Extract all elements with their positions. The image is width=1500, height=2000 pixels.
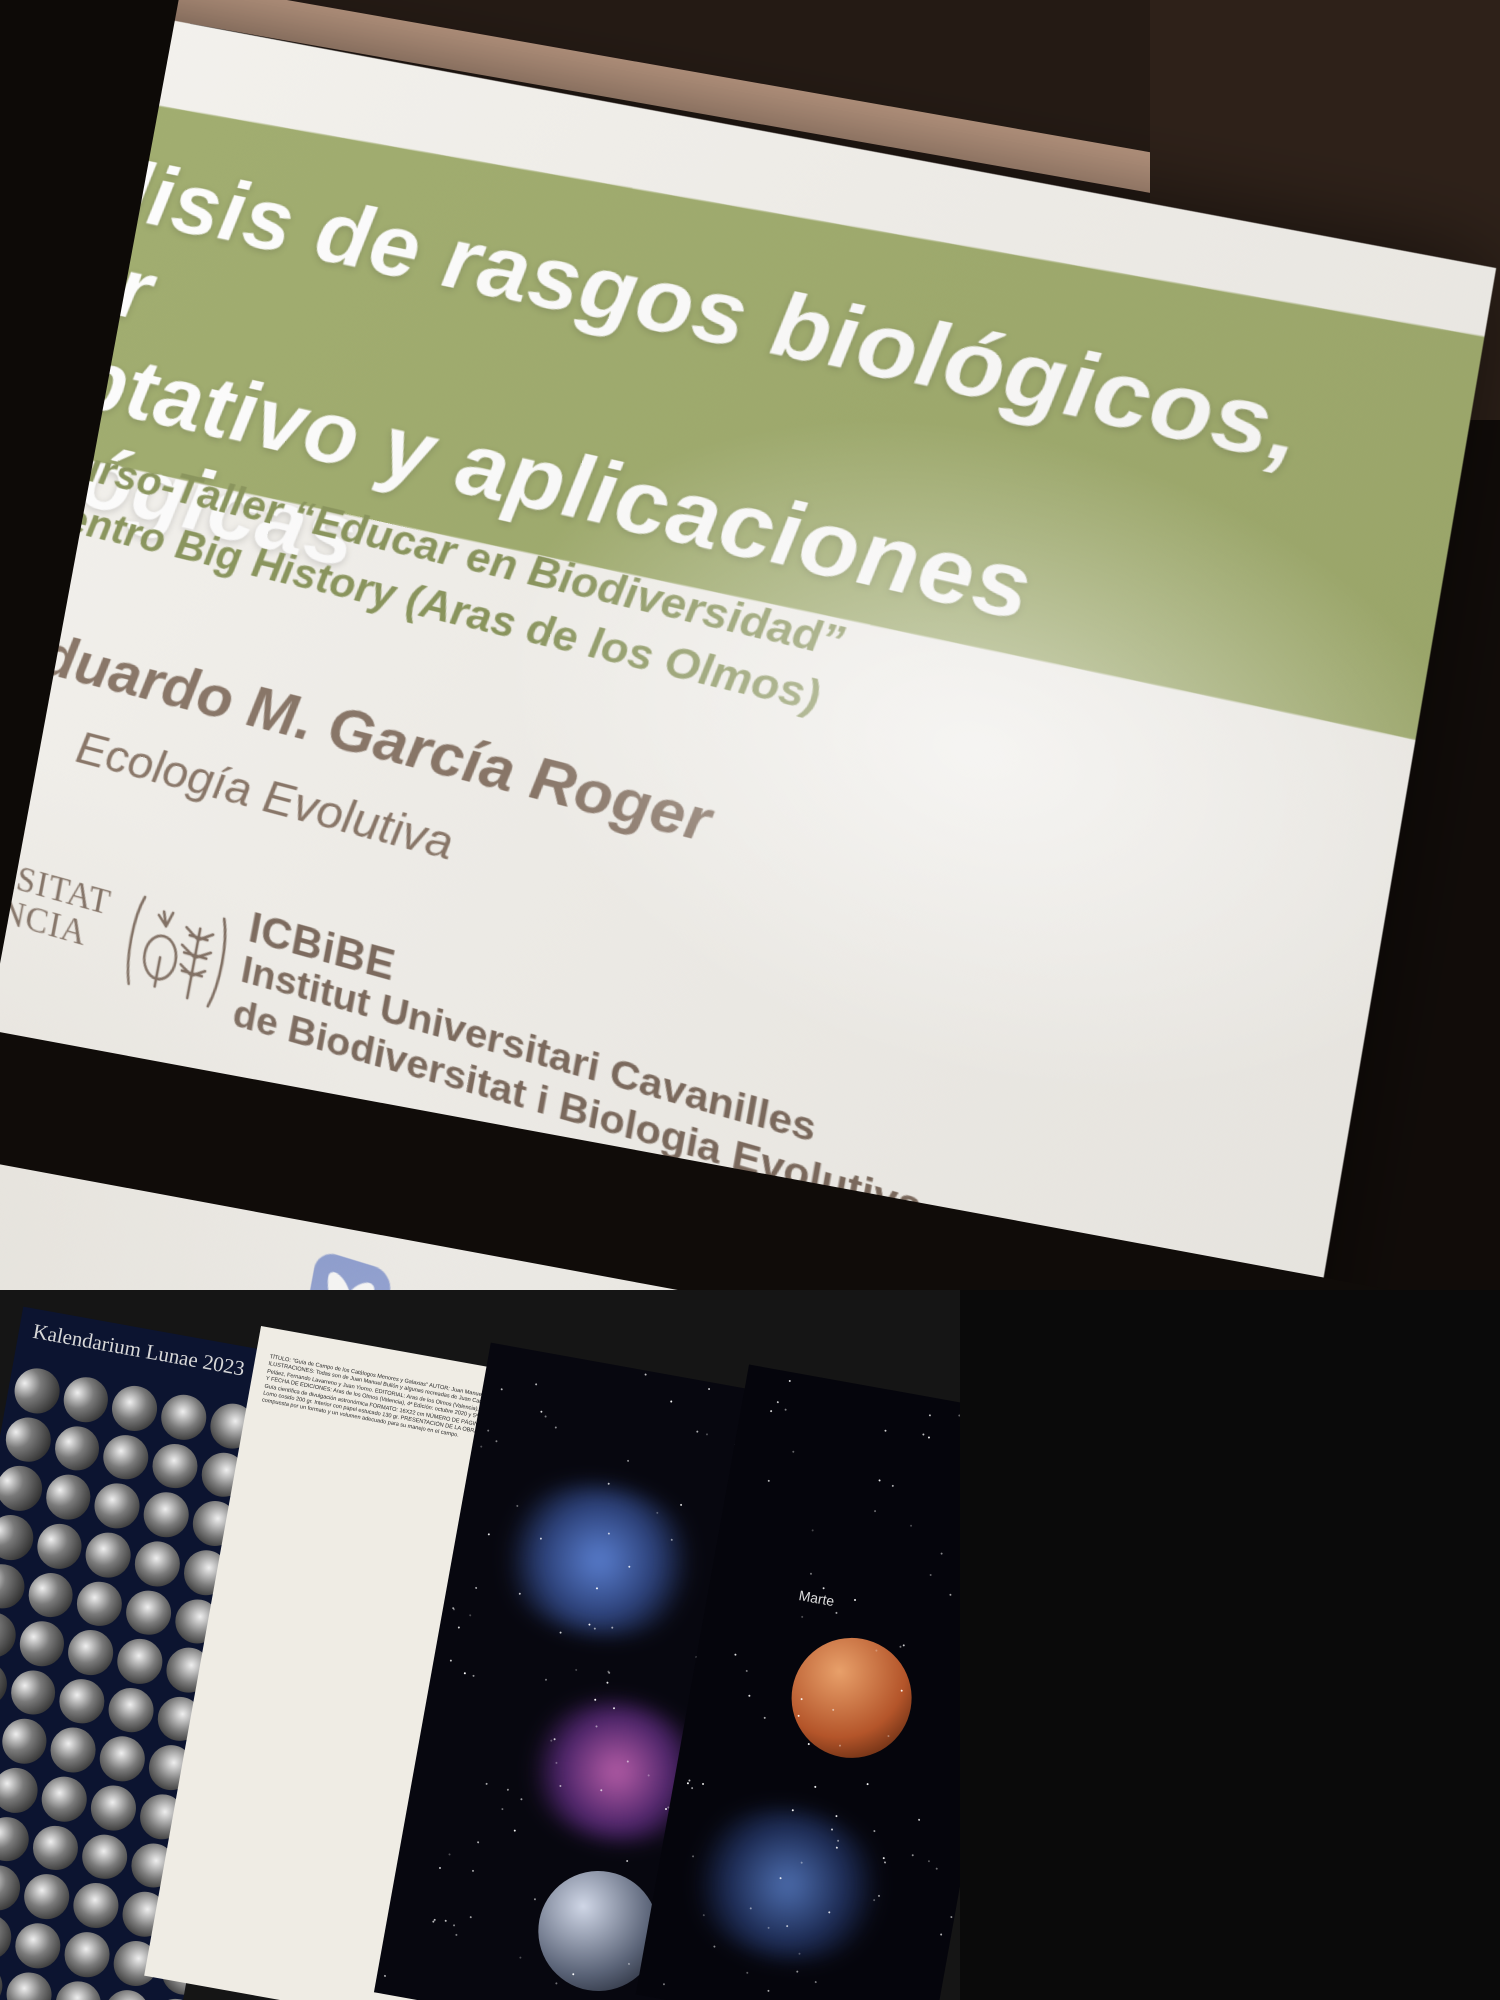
mars-planet-shape (782, 1628, 921, 1767)
star-dot (450, 1660, 452, 1662)
star-dot (670, 1400, 672, 1402)
moon-phase-dot (65, 1627, 117, 1679)
moon-phase-dot (150, 1995, 202, 2000)
star-dot (792, 1451, 794, 1453)
star-dot (874, 1510, 876, 1512)
poster-wall: Kalendarium Lunae 2023 TÍTULO: "Guía de … (0, 1290, 1500, 2000)
star-dot (477, 1841, 479, 1843)
star-dot (575, 1669, 577, 1671)
star-dot (874, 1830, 876, 1832)
moon-phase-dot (158, 1391, 210, 1443)
moon-phase-dot (87, 1782, 139, 1834)
moon-phase-dot (7, 1667, 59, 1719)
star-dot (748, 1694, 750, 1696)
star-dot (485, 1783, 487, 1785)
star-dot (768, 1989, 770, 1991)
moon-phase-dot (25, 1569, 77, 1621)
star-dot (519, 1956, 521, 1958)
star-dot (516, 1505, 518, 1507)
star-dot (472, 1870, 474, 1872)
star-dot (545, 1679, 547, 1681)
moon-phase-dot (0, 1560, 28, 1612)
moon-phase-dot (149, 1440, 201, 1492)
uv-tree-mark-icon (119, 884, 234, 1017)
moon-phase-dot (0, 1462, 45, 1514)
star-dot (607, 1670, 609, 1672)
star-dot (928, 1436, 930, 1438)
moon-phase-dot (0, 1658, 10, 1710)
star-dot (514, 1830, 516, 1832)
moon-phase-dot (60, 1374, 112, 1426)
star-dot (746, 1971, 748, 1973)
star-dot (706, 1433, 708, 1435)
moon-phase-dot (21, 1871, 73, 1923)
star-dot (887, 1735, 889, 1737)
star-dot (891, 1484, 893, 1486)
star-dot (734, 1654, 736, 1656)
star-dot (941, 1552, 943, 1554)
moon-phase-dot (3, 1968, 55, 2000)
star-dot (746, 1670, 748, 1672)
moon-phase-dot (140, 1489, 192, 1541)
star-dot (767, 1927, 769, 1929)
moon-phase-dot (70, 1880, 122, 1932)
star-dot (607, 1483, 609, 1485)
star-dot (713, 1945, 715, 1947)
star-dot (950, 1916, 952, 1918)
star-dot (949, 1594, 951, 1596)
star-dot (594, 1698, 596, 1700)
star-dot (784, 1409, 786, 1411)
moon-phase-dot (131, 1538, 183, 1590)
moon-phase-dot (16, 1618, 68, 1670)
star-dot (690, 1787, 692, 1789)
star-dot (550, 1739, 552, 1741)
star-dot (626, 1760, 628, 1762)
moon-phase-dot (101, 1986, 153, 2000)
star-dot (702, 1783, 704, 1785)
moon-phase-dot (114, 1635, 166, 1687)
star-dot (521, 1798, 523, 1800)
star-dot (928, 1860, 930, 1862)
star-dot (627, 1459, 629, 1461)
star-dot (812, 1529, 814, 1531)
star-dot (544, 1416, 546, 1418)
moon-phase-dot (12, 1920, 64, 1972)
moon-phase-dot (0, 1813, 33, 1865)
star-dot (626, 1860, 628, 1862)
star-dot (535, 1383, 537, 1385)
wall-dark-right (960, 1290, 1500, 2000)
moon-phase-dot (0, 1960, 6, 2000)
star-dot (480, 1445, 482, 1447)
star-dot (432, 1921, 434, 1923)
star-dot (455, 1934, 457, 1936)
star-dot (770, 1410, 772, 1412)
star-dot (487, 1430, 489, 1432)
mars-label: Marte (798, 1587, 836, 1609)
star-dot (796, 1970, 798, 1972)
star-dot (835, 1815, 837, 1817)
star-dot (835, 1612, 837, 1614)
star-dot (384, 1975, 386, 1977)
moon-phase-dot (30, 1822, 82, 1874)
projection-screen: Análisis de rasgos biológicos, valor ada… (0, 0, 1500, 1360)
moon-phase-dot (122, 1587, 174, 1639)
moon-phase-dot (96, 1733, 148, 1785)
star-dot (686, 1782, 688, 1784)
star-dot (554, 1426, 556, 1428)
star-dot (899, 1645, 901, 1647)
moon-phase-dot (2, 1414, 54, 1466)
moon-phase-dot (56, 1675, 108, 1727)
star-dot (464, 1672, 466, 1674)
star-dot (444, 1919, 446, 1921)
moon-phase-dot (0, 1609, 19, 1661)
moon-phase-dot (61, 1928, 113, 1980)
star-dot (600, 1789, 602, 1791)
star-dot (458, 1626, 460, 1628)
star-dot (883, 1857, 885, 1859)
nebula-shape (482, 1468, 715, 1653)
star-dot (808, 1743, 810, 1745)
moon-phase-dot (0, 1862, 24, 1914)
moon-phase-dot (100, 1431, 152, 1483)
mars-nebula-shape (676, 1793, 899, 1976)
star-dot (540, 1411, 542, 1413)
star-dot (815, 1981, 817, 1983)
star-dot (814, 1785, 816, 1787)
star-dot (559, 1784, 561, 1786)
star-dot (556, 1983, 558, 1985)
star-dot (595, 1725, 597, 1727)
moon-phase-dot (38, 1773, 90, 1825)
moon-phase-dot (11, 1365, 63, 1417)
star-dot (823, 1587, 825, 1589)
star-dot (696, 1430, 698, 1432)
moon-phase-dot (52, 1977, 104, 2000)
star-dot (453, 1609, 455, 1611)
star-dot (607, 1682, 609, 1684)
star-dot (902, 1644, 904, 1646)
star-dot (439, 1867, 441, 1869)
star-dot (831, 1828, 833, 1830)
star-dot (884, 1429, 886, 1431)
moon-phase-dot (91, 1480, 143, 1532)
star-dot (702, 1914, 704, 1916)
star-dot (936, 1867, 938, 1869)
star-dot (910, 1524, 912, 1526)
star-dot (593, 1627, 595, 1629)
star-dot (663, 1983, 665, 1985)
star-dot (647, 1774, 649, 1776)
moon-phase-dot (42, 1471, 94, 1523)
moon-phase-dot (51, 1422, 103, 1474)
star-dot (448, 1853, 450, 1855)
star-dot (475, 1586, 477, 1588)
star-dot (879, 1480, 881, 1482)
star-dot (555, 1762, 557, 1764)
moon-phase-dot (47, 1724, 99, 1776)
star-dot (918, 1818, 920, 1820)
star-dot (495, 1440, 497, 1442)
star-dot (469, 1614, 471, 1616)
star-dot (929, 1574, 931, 1576)
moon-phase-dot (34, 1520, 86, 1572)
star-dot (877, 1895, 879, 1897)
moon-phase-dot (109, 1382, 161, 1434)
star-dot (922, 1434, 924, 1436)
moon-phase-dot (0, 1511, 36, 1563)
star-dot (644, 1374, 646, 1376)
star-dot (912, 1854, 914, 1856)
star-dot (487, 1533, 489, 1535)
moon-phase-dot (0, 1764, 41, 1816)
star-dot (776, 1401, 778, 1403)
star-dot (688, 1779, 690, 1781)
star-dot (810, 1573, 812, 1575)
star-dot (501, 1808, 503, 1810)
star-dot (680, 1504, 682, 1506)
star-dot (560, 1631, 562, 1633)
star-dot (854, 1599, 856, 1601)
star-dot (472, 1675, 474, 1677)
star-dot (767, 1480, 769, 1482)
moon-phase-dot (82, 1529, 134, 1581)
star-dot (866, 1783, 868, 1785)
star-dot (883, 1861, 885, 1863)
moon-phase-dot (0, 1715, 50, 1767)
star-dot (792, 1809, 794, 1811)
star-dot (470, 1916, 472, 1918)
star-dot (789, 1380, 791, 1382)
moon-phase-dot (78, 1831, 130, 1883)
star-dot (501, 1388, 503, 1390)
star-dot (940, 1934, 942, 1936)
moon-phase-dot (0, 1707, 1, 1759)
star-dot (764, 1717, 766, 1719)
star-dot (801, 1616, 803, 1618)
star-dot (533, 1898, 535, 1900)
star-dot (929, 1414, 931, 1416)
star-dot (507, 1789, 509, 1791)
moon-phase-dot (0, 1911, 15, 1963)
star-dot (708, 1388, 710, 1390)
moon-phase-dot (105, 1684, 157, 1736)
star-dot (798, 1952, 800, 1954)
star-dot (453, 1924, 455, 1926)
moon-phase-dot (74, 1578, 126, 1630)
